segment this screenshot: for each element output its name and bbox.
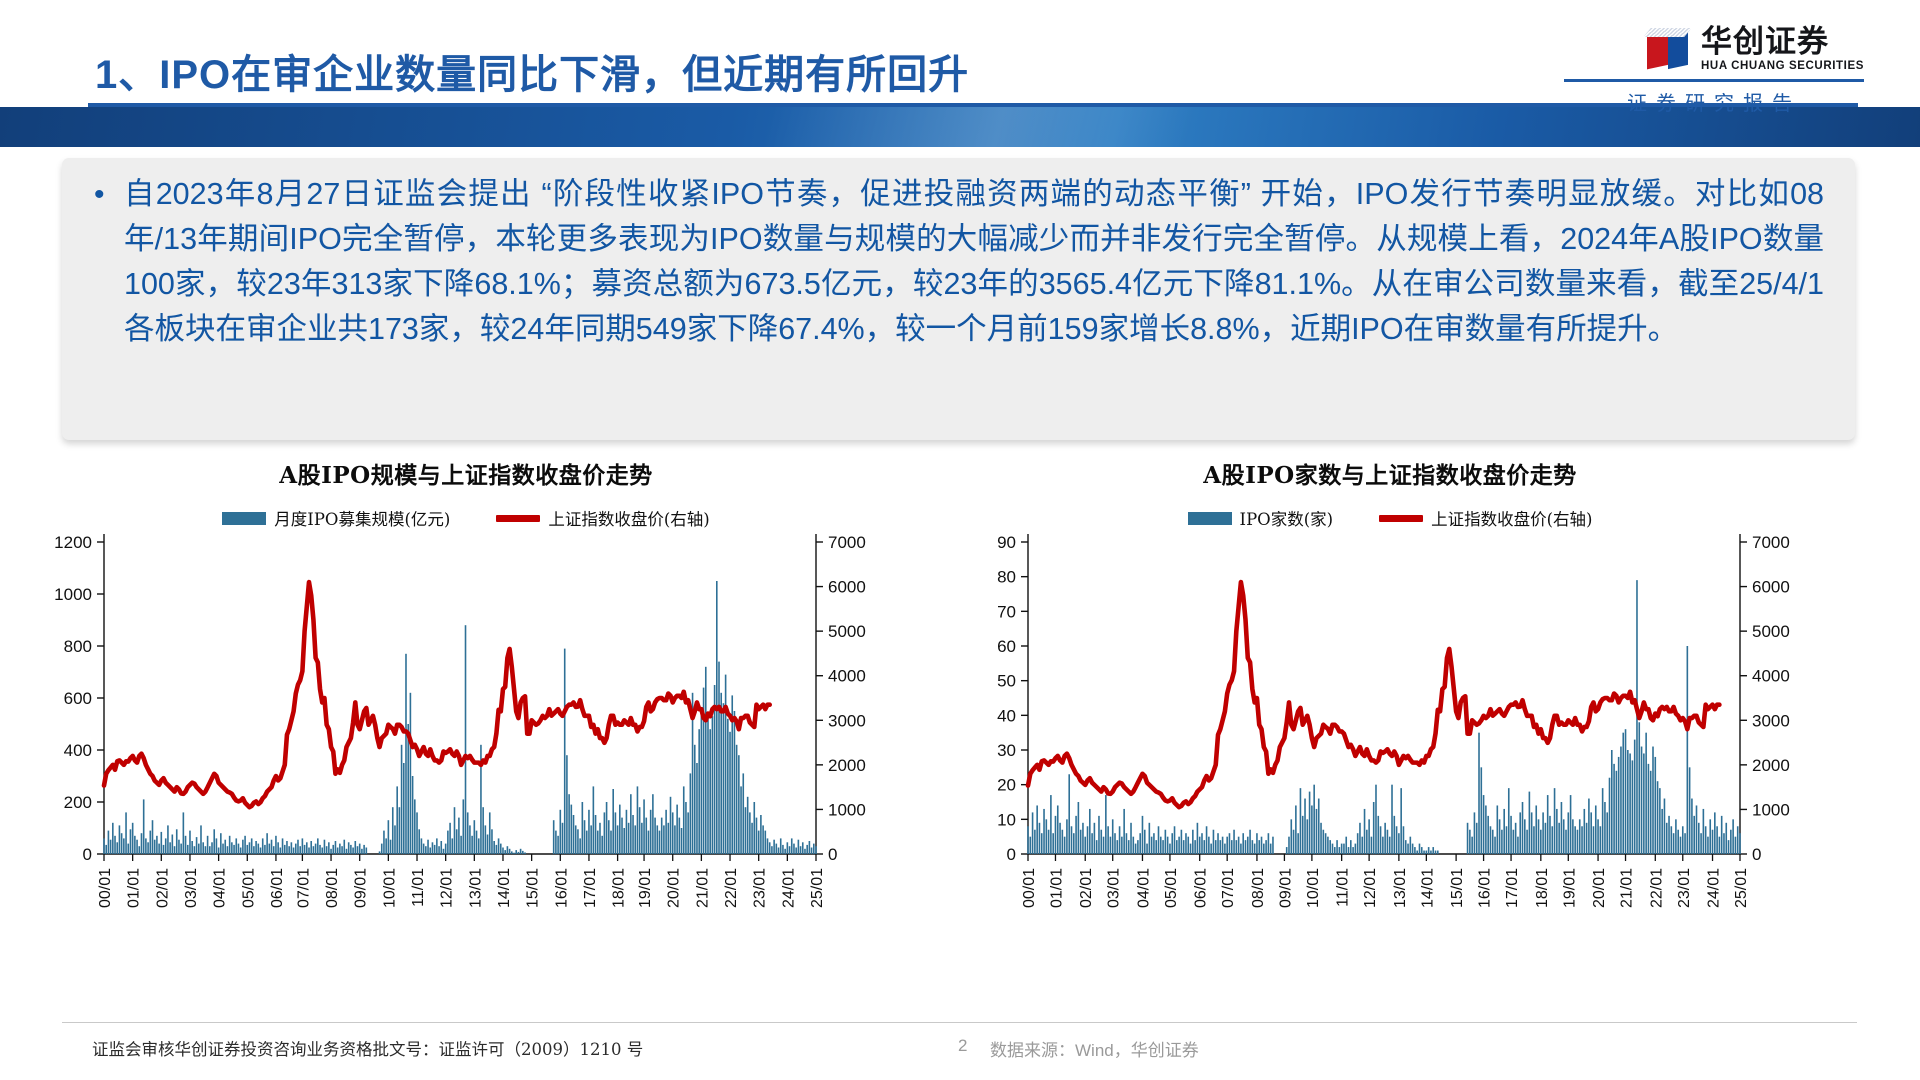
bar [440,841,442,854]
y-axis-tick-label: 400 [64,741,92,760]
bar [1545,823,1547,854]
bar [1732,819,1734,854]
bar [656,825,658,854]
bar [665,810,667,854]
bar [165,838,167,854]
bar [436,838,438,854]
y-axis-tick-label: 40 [997,706,1016,725]
bar [253,846,255,854]
y2-axis-tick-label: 1000 [1752,800,1790,819]
bar [1664,799,1666,854]
x-axis-tick-label: 20/01 [666,868,683,908]
bar [1121,837,1123,854]
bar [425,846,427,854]
bar [220,833,222,854]
bar [180,844,182,854]
bar [1654,757,1656,854]
bar [555,831,557,854]
bar [1641,747,1643,854]
bar [615,812,617,854]
bar [597,831,599,854]
bar [1659,788,1661,854]
bar [1716,826,1718,854]
bar [566,755,568,854]
bar [1160,837,1162,854]
bar [1297,833,1299,854]
bar [1151,837,1153,854]
bar [1371,837,1373,854]
bar [515,850,517,854]
bar [1430,851,1432,854]
bar [1272,837,1274,854]
bar [1254,844,1256,854]
bar [742,773,744,854]
bar [1680,837,1682,854]
bar [227,846,229,854]
bar [489,812,491,854]
bar [383,831,385,854]
bar [1236,840,1238,854]
y2-axis-tick-label: 4000 [828,667,866,686]
bar [357,846,359,854]
bar [560,810,562,854]
x-axis-tick-label: 07/01 [1220,868,1237,908]
x-axis-tick-label: 17/01 [1504,868,1521,908]
bar [1538,819,1540,854]
x-axis-tick-label: 10/01 [381,868,398,908]
bar [1320,823,1322,854]
bar [1107,826,1109,854]
bar [1423,851,1425,854]
bar [161,832,163,854]
bar [1043,809,1045,854]
bar [1499,819,1501,854]
bar [1648,764,1650,854]
bar [1579,819,1581,854]
slide-header: 1、IPO在审企业数量同比下滑，但近期有所回升 华创证券 HUA CHUANG … [0,0,1920,150]
bar [1036,805,1038,854]
y-axis-tick-label: 1200 [54,533,92,552]
bar [1103,837,1105,854]
x-axis-tick-label: 04/01 [1135,868,1152,908]
bar [670,797,672,854]
bar [178,840,180,854]
x-axis-tick-label: 02/01 [154,868,171,908]
bar [1561,802,1563,854]
x-axis-tick-label: 22/01 [1648,868,1665,908]
bar [795,848,797,855]
bar [1396,826,1398,854]
x-axis-tick-label: 06/01 [1193,868,1210,908]
x-axis-tick-label: 13/01 [1392,868,1409,908]
bar [1146,844,1148,854]
bar [346,849,348,854]
x-axis-tick-label: 21/01 [694,868,711,908]
bar [1345,837,1347,854]
bar [1229,833,1231,854]
bar [690,773,692,854]
bar [240,848,242,855]
bar [1080,830,1082,854]
bar [335,841,337,854]
bar [341,846,343,854]
bar [1684,833,1686,854]
bar [163,845,165,854]
bar [798,840,800,854]
bar [339,844,341,854]
bar [191,841,193,854]
y2-axis-tick-label: 7000 [828,533,866,552]
bar [423,844,425,854]
bar [1513,830,1515,854]
bar [476,831,478,854]
bar [114,836,116,854]
chart-ipo-scale: A股IPO规模与上证指数收盘价走势 月度IPO募集规模(亿元) 上证指数收盘价(… [26,452,906,1012]
x-axis-tick-label: 20/01 [1591,868,1608,908]
bar [438,846,440,854]
x-axis-tick-label: 11/01 [1335,868,1352,907]
bar [242,840,244,854]
bar [273,846,275,854]
bar [1162,840,1164,854]
bar [1220,840,1222,854]
bar [1709,819,1711,854]
bar [782,845,784,854]
bar [385,838,387,854]
y-axis-tick-label: 50 [997,672,1016,691]
bar [804,849,806,854]
x-axis-tick-label: 08/01 [324,868,341,908]
bar [1348,847,1350,854]
bar [1652,747,1654,854]
bar [1542,812,1544,854]
bar [626,810,628,854]
bar [1245,840,1247,854]
x-axis-tick-label: 12/01 [439,868,456,908]
bar [1256,833,1258,854]
bar [511,851,513,854]
bar [751,823,753,854]
bar [1673,833,1675,854]
bar [1029,837,1031,854]
bar [1325,833,1327,854]
bar [1352,847,1354,854]
bar [1286,847,1288,854]
x-axis-tick-label: 24/01 [1706,868,1723,908]
bar [1531,812,1533,854]
bar [1094,823,1096,854]
bar [1391,785,1393,854]
bar [1551,826,1553,854]
bar [156,836,158,854]
logo-divider [1564,79,1864,82]
bar [229,836,231,854]
bar [286,841,288,854]
bar [679,818,681,854]
y2-axis-tick-label: 0 [1752,845,1761,864]
bar [1238,837,1240,854]
bar [147,842,149,854]
bar [590,825,592,854]
bar [110,840,112,854]
bar [496,845,498,854]
bar [451,838,453,854]
bar [222,844,224,854]
bar [1084,837,1086,854]
bar [202,842,204,854]
bar [302,838,304,854]
x-axis-tick-label: 18/01 [611,868,628,908]
bar [1133,837,1135,854]
bar [778,848,780,855]
bar [767,838,769,854]
bar [315,844,317,854]
bar [608,820,610,854]
bar [507,846,509,854]
bar [1638,722,1640,854]
bar [659,831,661,854]
y-axis-tick-label: 10 [997,810,1016,829]
bar [1474,812,1476,854]
bar [123,838,125,854]
bar [1407,844,1409,854]
page-number: 2 [958,1036,967,1056]
bar [641,823,643,854]
bar [687,812,689,854]
hua-chuang-logo-icon [1645,27,1691,71]
bar [1481,767,1483,854]
bar [1288,837,1290,854]
y-axis-tick-label: 600 [64,689,92,708]
bar [723,703,725,854]
bar [1311,805,1313,854]
bar [1501,830,1503,854]
x-axis-tick-label: 05/01 [1163,868,1180,908]
y2-axis-tick-label: 3000 [828,711,866,730]
bar [235,838,237,854]
bar [1554,788,1556,854]
bar [1052,833,1054,854]
bar [745,807,747,854]
bar [1577,830,1579,854]
bar [116,842,118,854]
bar [363,845,365,854]
bar [1515,823,1517,854]
bar [584,820,586,854]
bar [727,719,729,854]
bar [1242,833,1244,854]
bar [509,849,511,854]
bar [1171,833,1173,854]
bar [762,825,764,854]
bar [776,844,778,854]
bar [487,835,489,855]
bar [709,729,711,854]
bar [1155,840,1157,854]
y2-axis-tick-label: 6000 [1752,578,1790,597]
bar [469,825,471,854]
bar [599,823,601,854]
bar [443,849,445,854]
bar [1668,816,1670,854]
bar [712,716,714,854]
bar [308,848,310,855]
bar [758,831,760,854]
bar [172,835,174,855]
bar [663,825,665,854]
bar [291,842,293,854]
bar [1625,729,1627,854]
logo-subtitle: 证券研究报告 [1564,87,1864,116]
bar [1707,837,1709,854]
bar [379,851,381,854]
bar [1581,826,1583,854]
bar [244,836,246,854]
bar [1437,851,1439,854]
bar [1432,847,1434,854]
bar [588,810,590,854]
bar [1290,819,1292,854]
x-axis-tick-label: 16/01 [1477,868,1494,908]
y-axis-tick-label: 30 [997,741,1016,760]
bar [513,853,515,854]
bar [1224,844,1226,854]
x-axis-tick-label: 05/01 [240,868,257,908]
bar [1201,833,1203,854]
bar [478,838,480,854]
bar [1190,844,1192,854]
bar [1197,823,1199,854]
bar [1261,837,1263,854]
bar [205,846,207,854]
y2-axis-tick-label: 3000 [1752,711,1790,730]
bar [405,654,407,854]
bar [1295,805,1297,854]
x-axis-tick-label: 17/01 [582,868,599,908]
bar [447,831,449,854]
bar [645,818,647,854]
bar [200,825,202,854]
bar [258,844,260,854]
bar [348,842,350,854]
bar [524,852,526,854]
bar [105,845,107,854]
bar [1169,844,1171,854]
bar [1703,809,1705,854]
bar [271,840,273,854]
bar [1252,840,1254,854]
bar [392,807,394,854]
bar [326,846,328,854]
x-axis-tick-label: 23/01 [752,868,769,908]
bar [1600,826,1602,854]
bar [207,836,209,854]
bar [429,848,431,855]
bar [621,818,623,854]
bar [740,786,742,854]
bar [412,776,414,854]
bar [1336,840,1338,854]
bar [169,842,171,854]
bar [1565,830,1567,854]
bar [304,845,306,854]
bar [1606,812,1608,854]
bar [623,828,625,854]
bar [650,810,652,854]
x-axis-tick-label: 02/01 [1078,868,1095,908]
bar [716,581,718,854]
x-axis-tick-label: 24/01 [780,868,797,908]
x-axis-tick-label: 15/01 [525,868,542,908]
bar [1483,795,1485,854]
bar [275,836,277,854]
bar [211,842,213,854]
bar [354,841,356,854]
bar [152,820,154,854]
bar [1739,833,1741,854]
x-axis-tick-label: 01/01 [1048,868,1065,908]
bar [1666,823,1668,854]
bar [414,799,416,854]
bar [1568,812,1570,854]
bar [577,829,579,854]
bar [1323,830,1325,854]
y2-axis-tick-label: 2000 [1752,756,1790,775]
bar [1675,819,1677,854]
bar [1139,833,1141,854]
bar [705,667,707,854]
bar [652,794,654,854]
bar [1597,819,1599,854]
bar [1629,753,1631,854]
bar [282,838,284,854]
bar [793,844,795,854]
bar [1210,844,1212,854]
bar [134,836,136,854]
bar [1682,826,1684,854]
bar [352,848,354,855]
bar [1073,833,1075,854]
bar [1149,823,1151,854]
bar [1522,802,1524,854]
bar [1382,837,1384,854]
bar [1389,837,1391,854]
bar [736,745,738,854]
bar [154,840,156,854]
bar [701,708,703,854]
bar [1350,840,1352,854]
footer-divider [62,1022,1857,1023]
bar [143,799,145,854]
bar [149,831,151,854]
bar [595,815,597,854]
bar [1714,812,1716,854]
bar [749,812,751,854]
bar [196,837,198,854]
bar [1419,844,1421,854]
callout-paragraph: 自2023年8月27日证监会提出 “阶段性收紧IPO节奏，促进投融资两端的动态平… [124,172,1824,353]
bar [1533,826,1535,854]
bar [639,807,641,854]
y2-axis-tick-label: 5000 [1752,622,1790,641]
bar [1570,795,1572,854]
y2-axis-tick-label: 2000 [828,756,866,775]
bar [619,805,621,854]
bar [1130,823,1132,854]
bar [1691,799,1693,854]
bar [416,812,418,854]
x-axis-tick-label: 15/01 [1449,868,1466,908]
